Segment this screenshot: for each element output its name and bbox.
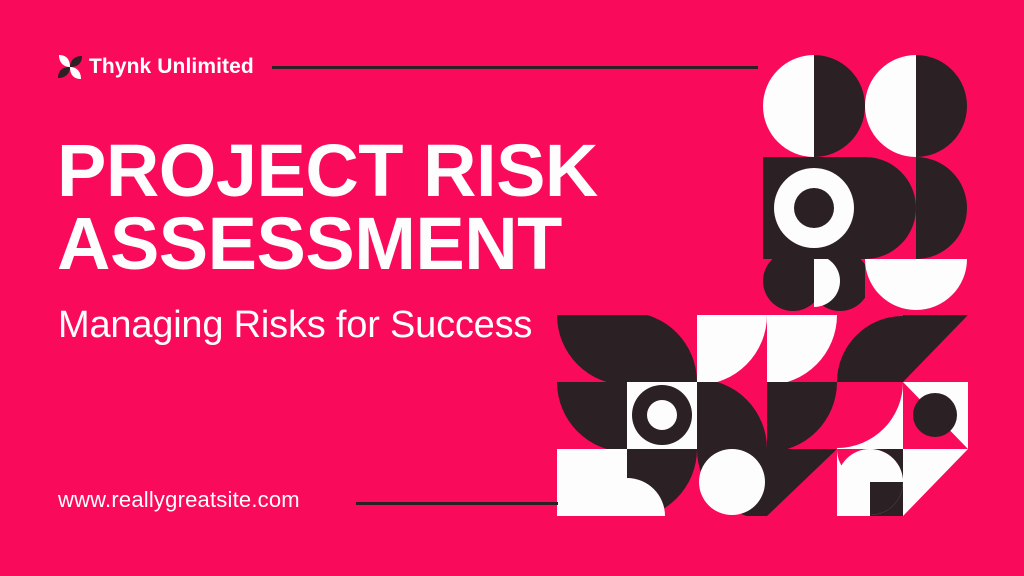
brand-name: Thynk Unlimited (89, 55, 254, 79)
website-url: www.reallygreatsite.com (58, 487, 300, 513)
title-line-1: PROJECT RISK (57, 134, 757, 207)
title-line-2: ASSESSMENT (57, 207, 757, 280)
page-title: PROJECT RISK ASSESSMENT (57, 134, 757, 281)
slide-canvas: Thynk Unlimited PROJECT RISK ASSESSMENT … (0, 0, 1024, 576)
pattern-bottom-band (557, 245, 969, 554)
brand-lockup: Thynk Unlimited (57, 50, 254, 84)
header-rule (272, 66, 758, 69)
page-subtitle: Managing Risks for Success (58, 304, 532, 347)
footer-rule (356, 502, 558, 505)
four-petal-x-logo-icon (57, 54, 83, 80)
pattern-top-band (763, 55, 967, 311)
